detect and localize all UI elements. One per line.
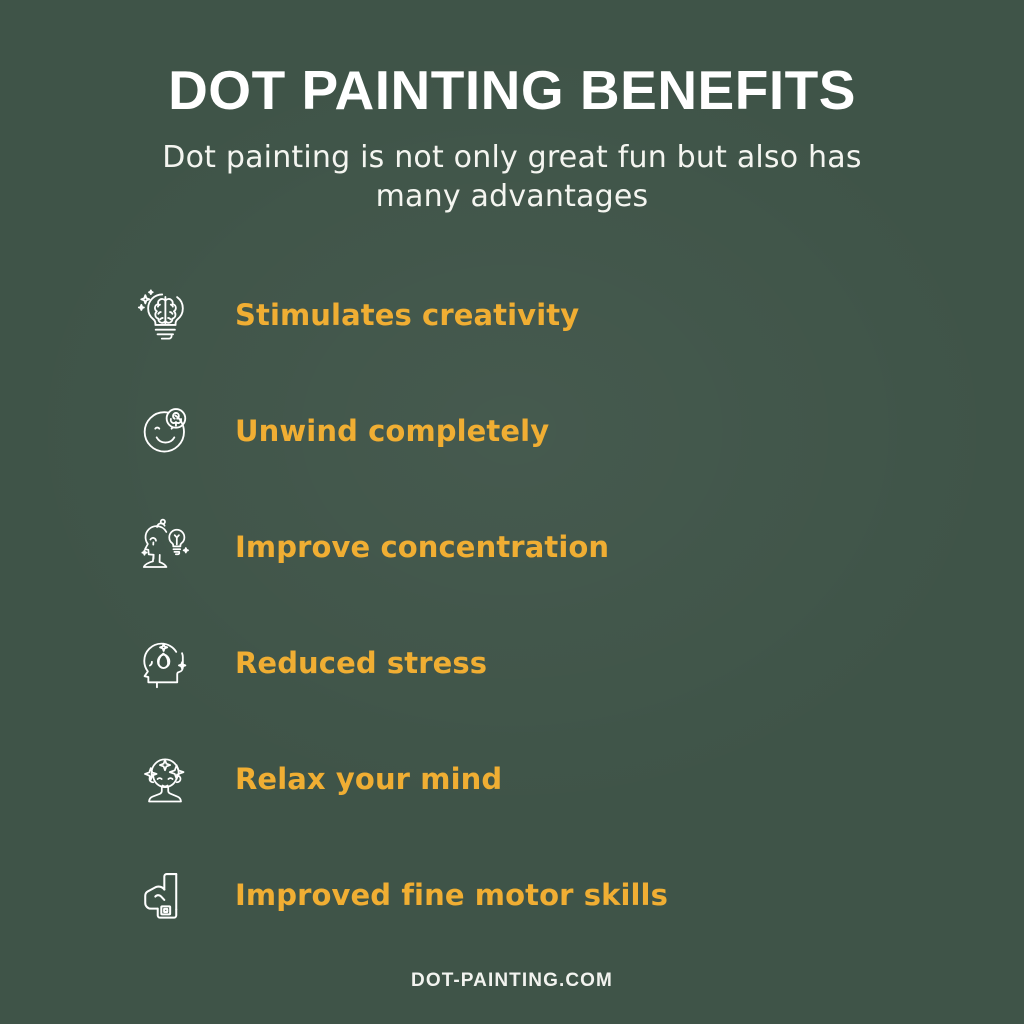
list-item: Stimulates creativity	[132, 257, 1024, 373]
list-item: Improved fine motor skills	[132, 837, 1024, 953]
infographic-poster: DOT PAINTING BENEFITS Dot painting is no…	[0, 0, 1024, 1024]
benefit-label: Improved fine motor skills	[235, 878, 668, 912]
benefits-list: Stimulates creativity Unwind complet	[0, 257, 1024, 953]
page-title: DOT PAINTING BENEFITS	[0, 62, 1024, 120]
hand-holding-block-icon	[132, 862, 198, 928]
head-profile-lightbulb-icon	[132, 514, 198, 580]
smiley-face-flower-icon	[132, 398, 198, 464]
list-item: Improve concentration	[132, 489, 1024, 605]
poster-header: DOT PAINTING BENEFITS Dot painting is no…	[0, 0, 1024, 217]
page-subtitle: Dot painting is not only great fun but a…	[142, 138, 882, 217]
benefit-label: Reduced stress	[235, 646, 487, 680]
benefit-label: Improve concentration	[235, 530, 609, 564]
list-item: Unwind completely	[132, 373, 1024, 489]
head-lotus-sparkle-icon	[132, 630, 198, 696]
list-item: Relax your mind	[132, 721, 1024, 837]
benefit-label: Stimulates creativity	[235, 298, 579, 332]
lightbulb-brain-sparkle-icon	[132, 282, 198, 348]
list-item: Reduced stress	[132, 605, 1024, 721]
calm-face-stars-icon	[132, 746, 198, 812]
benefit-label: Unwind completely	[235, 414, 549, 448]
footer: DOT-PAINTING.COM	[0, 970, 1024, 992]
benefit-label: Relax your mind	[235, 762, 502, 796]
footer-website-text: DOT-PAINTING.COM	[411, 970, 613, 991]
